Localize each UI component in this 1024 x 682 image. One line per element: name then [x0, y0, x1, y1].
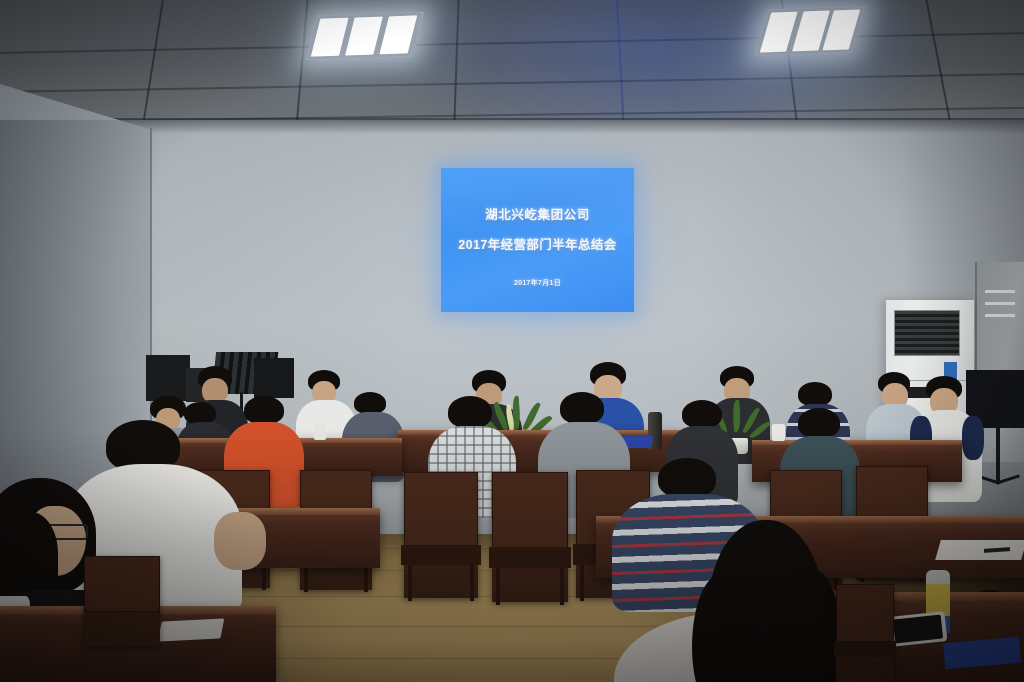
slide-title-line2: 2017年经营部门半年总结会 [441, 234, 634, 253]
chair-front-right[interactable] [836, 584, 894, 682]
meeting-room-photo: 湖北兴屹集团公司 2017年经营部门半年总结会 2017年7月1日 [0, 0, 1024, 682]
slide-title-line1: 湖北兴屹集团公司 [441, 204, 634, 223]
chair-front-left[interactable] [84, 556, 160, 646]
speaker-stand-pole [996, 428, 1000, 484]
cup-right-table [772, 424, 785, 441]
loudspeaker-left [146, 355, 190, 401]
ac-louver-grille [894, 310, 960, 356]
ceiling-light-left [306, 12, 424, 60]
chair-mid-4[interactable] [492, 472, 568, 602]
cup-left-table [314, 424, 326, 440]
chair-mid-3[interactable] [404, 472, 478, 598]
projection-screen: 湖北兴屹集团公司 2017年经营部门半年总结会 2017年7月1日 [441, 168, 634, 312]
paper-napkin-front [158, 618, 225, 641]
dark-board-left [254, 358, 294, 398]
phone-screen[interactable] [893, 615, 943, 644]
paper-sheet-right [935, 540, 1024, 560]
smartphone-white [889, 611, 948, 647]
ceiling-light-right [755, 6, 865, 55]
slide-date: 2017年7月1日 [441, 278, 634, 288]
